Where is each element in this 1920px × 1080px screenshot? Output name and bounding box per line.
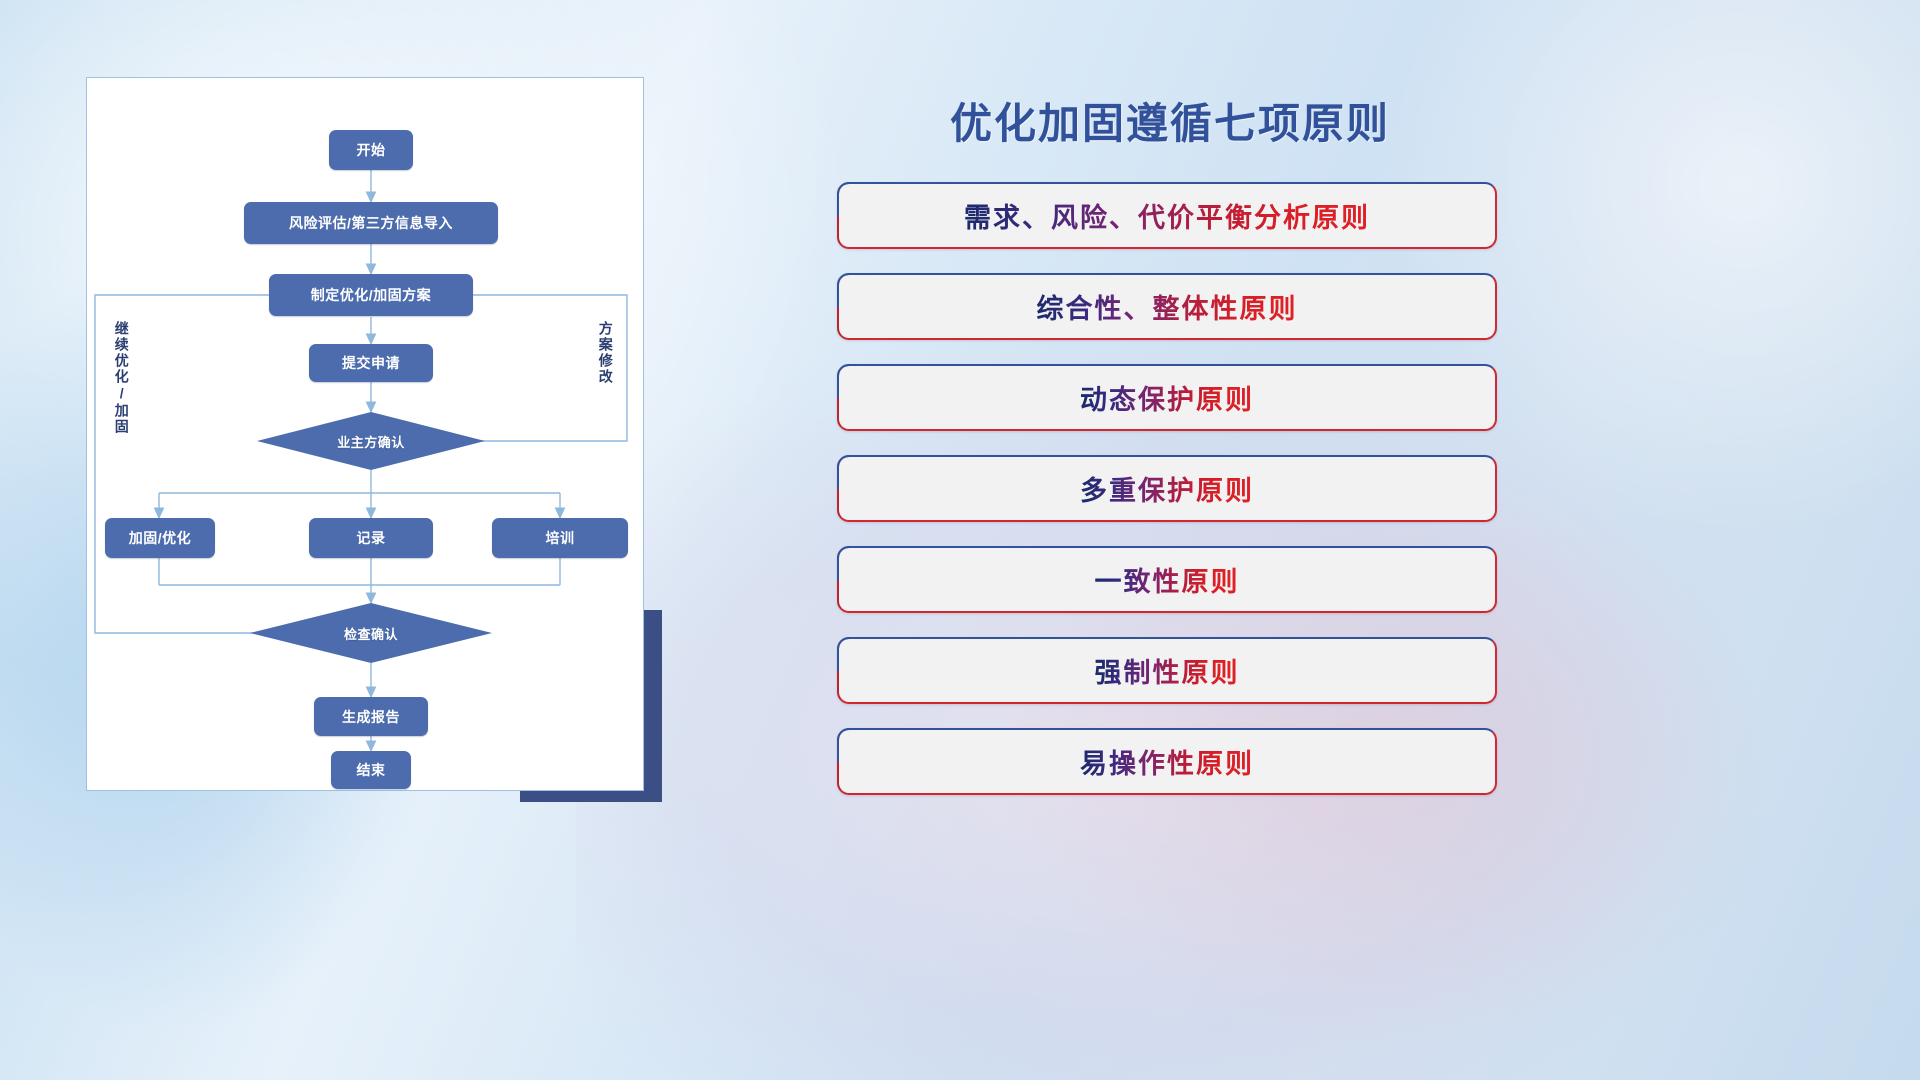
- principle-item-1[interactable]: 需求、风险、代价平衡分析原则: [837, 182, 1497, 249]
- flow-node-risk-assessment-label: 风险评估/第三方信息导入: [289, 213, 453, 233]
- principle-label-2: 综合性、整体性原则: [1037, 287, 1298, 326]
- flow-node-make-plan[interactable]: 制定优化/加固方案: [269, 274, 473, 316]
- principle-label-3: 动态保护原则: [1080, 378, 1254, 417]
- flow-node-generate-report-label: 生成报告: [342, 707, 400, 727]
- flow-node-make-plan-label: 制定优化/加固方案: [311, 285, 431, 305]
- principle-item-3[interactable]: 动态保护原则: [837, 364, 1497, 431]
- flow-node-record[interactable]: 记录: [309, 518, 433, 558]
- flow-node-training[interactable]: 培训: [492, 518, 628, 558]
- flowchart-card: 开始 风险评估/第三方信息导入 制定优化/加固方案 提交申请 业主方确认 加固/…: [86, 77, 644, 791]
- flow-node-generate-report[interactable]: 生成报告: [314, 697, 428, 736]
- flow-node-submit-application[interactable]: 提交申请: [309, 344, 433, 382]
- principle-item-2[interactable]: 综合性、整体性原则: [837, 273, 1497, 340]
- principles-panel: 优化加固遵循七项原则 需求、风险、代价平衡分析原则 综合性、整体性原则 动态保护…: [820, 70, 1880, 1030]
- principle-item-7[interactable]: 易操作性原则: [837, 728, 1497, 795]
- panel-title: 优化加固遵循七项原则: [820, 90, 1520, 151]
- flow-node-check-confirm[interactable]: 检查确认: [271, 621, 471, 645]
- flow-node-end[interactable]: 结束: [331, 751, 411, 789]
- flow-node-submit-application-label: 提交申请: [342, 353, 400, 373]
- flow-node-owner-confirm-label: 业主方确认: [337, 432, 405, 451]
- flow-node-start[interactable]: 开始: [329, 130, 413, 170]
- flow-node-record-label: 记录: [357, 528, 386, 548]
- flow-edge-label-left-loop: 继续优化/加固: [114, 321, 129, 451]
- flow-node-owner-confirm[interactable]: 业主方确认: [271, 429, 471, 453]
- flow-node-end-label: 结束: [357, 760, 386, 780]
- flow-node-reinforce[interactable]: 加固/优化: [105, 518, 215, 558]
- principle-item-6[interactable]: 强制性原则: [837, 637, 1497, 704]
- principle-label-6: 强制性原则: [1095, 651, 1240, 690]
- principle-label-1: 需求、风险、代价平衡分析原则: [964, 196, 1370, 235]
- flow-edge-label-right-loop: 方案修改: [598, 321, 613, 417]
- flow-node-reinforce-label: 加固/优化: [129, 528, 191, 548]
- flow-node-training-label: 培训: [546, 528, 575, 548]
- flow-node-check-confirm-label: 检查确认: [344, 624, 398, 643]
- principle-label-4: 多重保护原则: [1080, 469, 1254, 508]
- principles-list: 需求、风险、代价平衡分析原则 综合性、整体性原则 动态保护原则 多重保护原则 一…: [837, 182, 1497, 819]
- flow-node-risk-assessment[interactable]: 风险评估/第三方信息导入: [244, 202, 498, 244]
- principle-item-5[interactable]: 一致性原则: [837, 546, 1497, 613]
- principle-label-5: 一致性原则: [1095, 560, 1240, 599]
- principle-label-7: 易操作性原则: [1080, 742, 1254, 781]
- flow-node-start-label: 开始: [357, 140, 386, 160]
- principle-item-4[interactable]: 多重保护原则: [837, 455, 1497, 522]
